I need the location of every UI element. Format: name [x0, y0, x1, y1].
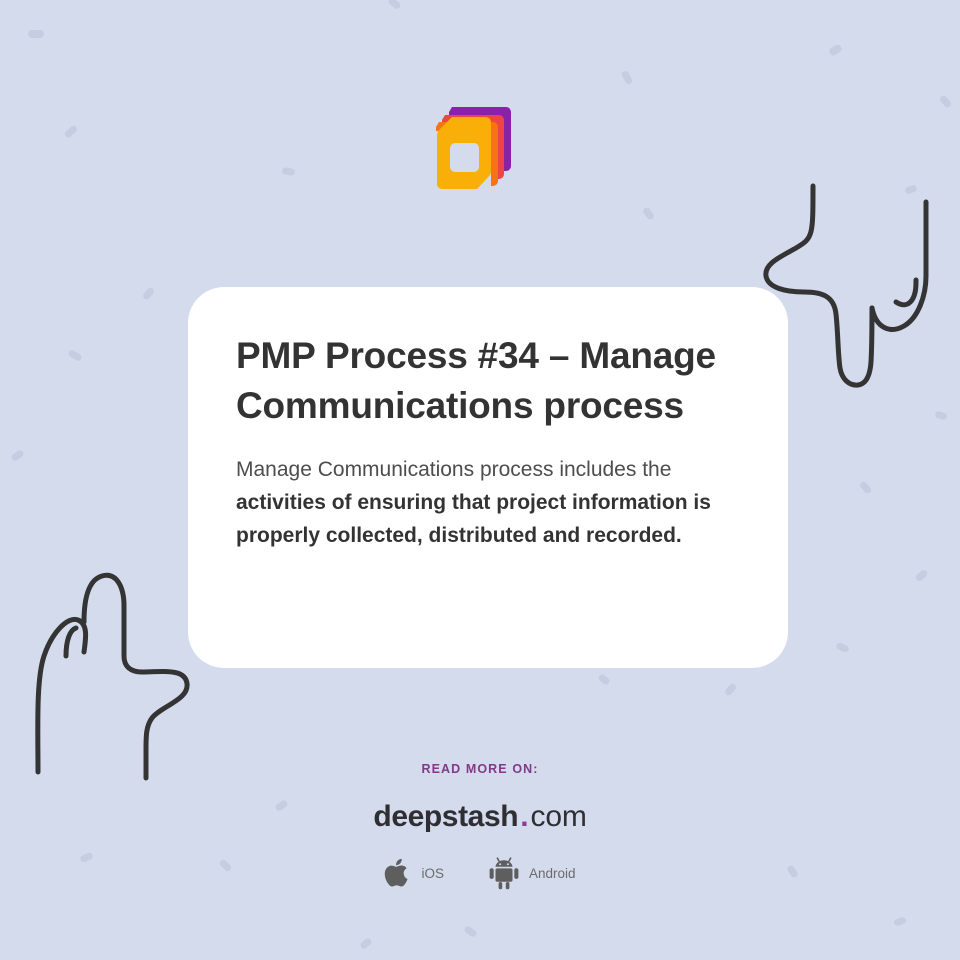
confetti-speck [835, 642, 850, 654]
wordmark-tld: com [531, 800, 587, 833]
deepstash-wordmark[interactable]: deepstash.com [0, 802, 960, 832]
pointing-hand-left-icon [26, 560, 201, 785]
confetti-speck [67, 349, 83, 362]
confetti-speck [64, 124, 79, 139]
confetti-speck [904, 184, 918, 195]
confetti-speck [387, 0, 402, 10]
confetti-speck [142, 286, 156, 301]
confetti-speck [828, 43, 843, 56]
idea-body-emphasis: activities of ensuring that project info… [236, 491, 711, 547]
confetti-speck [359, 937, 373, 950]
confetti-speck [281, 167, 295, 176]
idea-card: PMP Process #34 – Manage Communications … [188, 287, 788, 668]
store-badge-android[interactable]: Android [488, 856, 576, 890]
apple-icon [384, 856, 412, 890]
store-label-ios: iOS [421, 866, 444, 881]
wordmark-dot: . [518, 800, 530, 833]
page-title: PMP Process #34 – Manage Communications … [236, 331, 740, 431]
read-more-label: READ MORE ON: [0, 762, 960, 776]
confetti-speck [28, 30, 44, 38]
confetti-speck [934, 410, 948, 420]
confetti-speck [939, 94, 953, 108]
idea-body: Manage Communications process includes t… [236, 453, 740, 552]
confetti-speck [914, 569, 928, 583]
deepstash-logo [430, 105, 516, 197]
poster-canvas: PMP Process #34 – Manage Communications … [0, 0, 960, 960]
confetti-speck [724, 682, 738, 696]
store-label-android: Android [529, 866, 576, 881]
store-badge-ios[interactable]: iOS [384, 856, 444, 890]
confetti-speck [893, 916, 907, 926]
confetti-speck [642, 206, 655, 221]
idea-body-lead: Manage Communications process includes t… [236, 458, 671, 481]
footer: READ MORE ON: deepstash.com iOS [0, 762, 960, 890]
app-store-badges: iOS [0, 856, 960, 890]
confetti-speck [463, 925, 478, 938]
confetti-speck [10, 449, 25, 462]
confetti-speck [621, 70, 634, 86]
confetti-speck [597, 673, 611, 686]
wordmark-name: deepstash [373, 800, 518, 833]
android-icon [488, 856, 520, 890]
confetti-speck [859, 480, 873, 494]
